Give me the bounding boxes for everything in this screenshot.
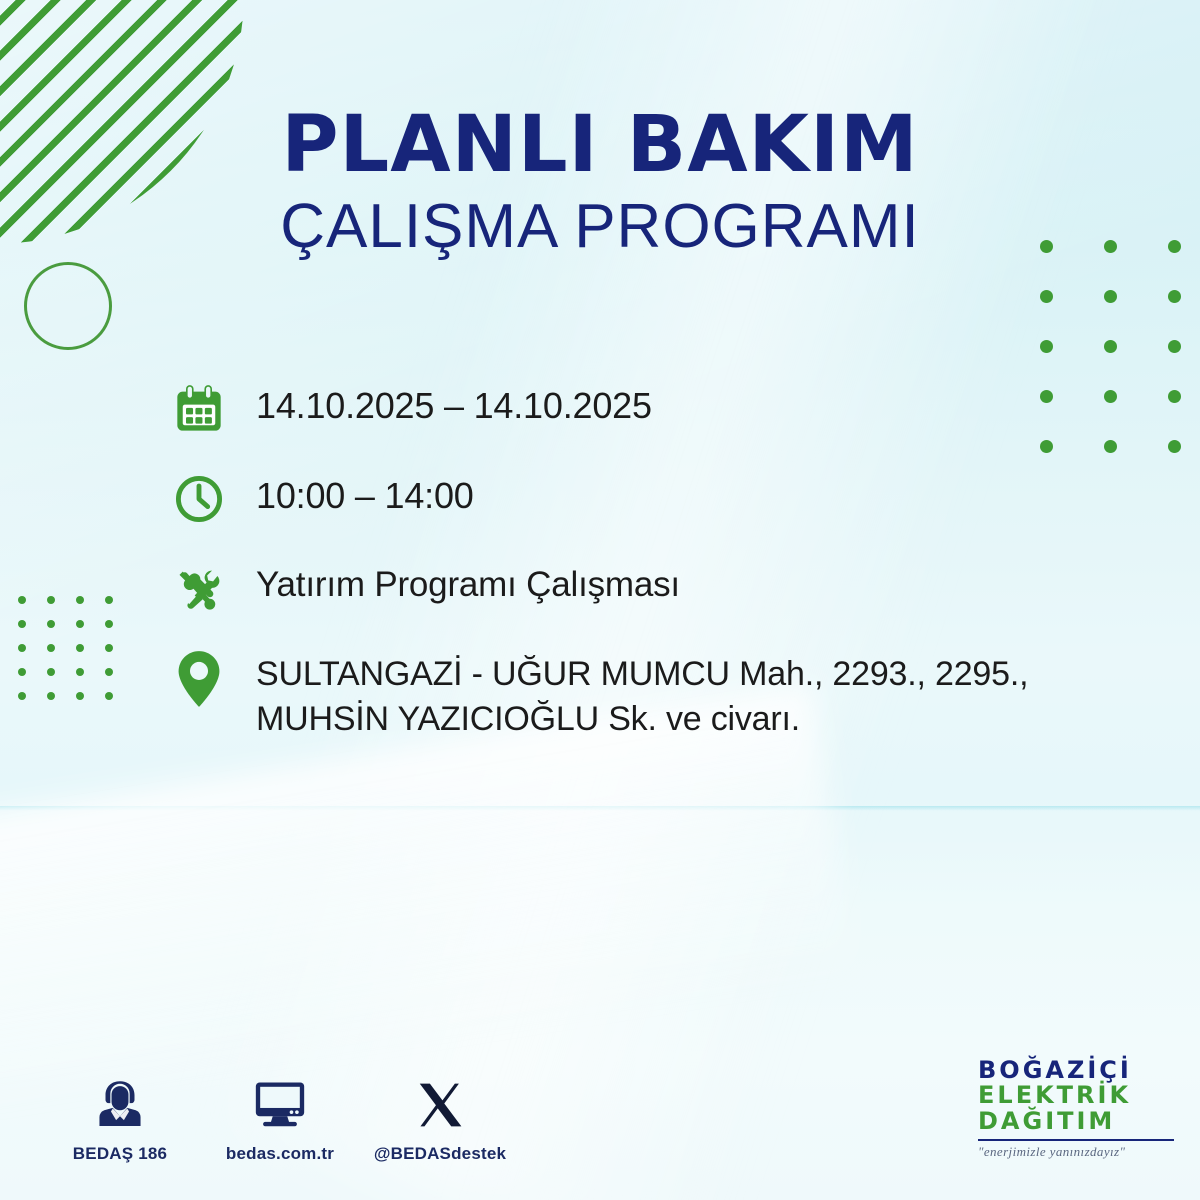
maintenance-details: 14.10.2025 – 14.10.2025 10:00 – 14:00 bbox=[168, 378, 1158, 742]
contact-phone-label: BEDAŞ 186 bbox=[40, 1144, 200, 1164]
dot bbox=[1040, 340, 1053, 353]
date-range-value: 14.10.2025 – 14.10.2025 bbox=[230, 378, 652, 430]
poster-header: PLANLI BAKIM ÇALIŞMA PROGRAMI bbox=[0, 106, 1200, 258]
dot bbox=[18, 596, 26, 604]
location-value: SULTANGAZİ - UĞUR MUMCU Mah., 2293., 229… bbox=[230, 648, 1028, 742]
dot bbox=[1168, 390, 1181, 403]
x-social-icon bbox=[360, 1068, 520, 1132]
detail-row-time: 10:00 – 14:00 bbox=[168, 468, 1158, 530]
contact-website[interactable]: bedas.com.tr bbox=[200, 1068, 360, 1164]
dot bbox=[1168, 290, 1181, 303]
dot bbox=[18, 620, 26, 628]
map-pin-icon bbox=[168, 648, 230, 710]
dot bbox=[1168, 440, 1181, 453]
dot bbox=[105, 644, 113, 652]
dot bbox=[105, 620, 113, 628]
dot bbox=[18, 692, 26, 700]
logo-line-elektrik: ELEKTRİK bbox=[978, 1083, 1178, 1108]
dot bbox=[1040, 290, 1053, 303]
dot bbox=[1168, 340, 1181, 353]
detail-row-work-type: Yatırım Programı Çalışması bbox=[168, 558, 1158, 620]
dot bbox=[105, 692, 113, 700]
dot bbox=[47, 668, 55, 676]
dot bbox=[1104, 290, 1117, 303]
dot bbox=[47, 620, 55, 628]
detail-row-date: 14.10.2025 – 14.10.2025 bbox=[168, 378, 1158, 440]
dot bbox=[18, 644, 26, 652]
tools-icon bbox=[168, 558, 230, 620]
page-subtitle: ÇALIŞMA PROGRAMI bbox=[0, 196, 1200, 258]
detail-row-location: SULTANGAZİ - UĞUR MUMCU Mah., 2293., 229… bbox=[168, 648, 1158, 742]
time-range-value: 10:00 – 14:00 bbox=[230, 468, 474, 520]
dot bbox=[76, 668, 84, 676]
planned-maintenance-poster: PLANLI BAKIM ÇALIŞMA PROGRAMI bbox=[0, 0, 1200, 1200]
page-title: PLANLI BAKIM bbox=[0, 106, 1200, 184]
dot bbox=[105, 596, 113, 604]
clock-icon bbox=[168, 468, 230, 530]
dot bbox=[47, 644, 55, 652]
dot bbox=[47, 596, 55, 604]
monitor-icon bbox=[200, 1068, 360, 1132]
calendar-icon bbox=[168, 378, 230, 440]
logo-line-dagitim: DAĞITIM bbox=[978, 1109, 1178, 1134]
dot bbox=[105, 668, 113, 676]
company-logo: BOĞAZİÇİ ELEKTRİK DAĞITIM "enerjimizle y… bbox=[978, 1058, 1178, 1160]
dot bbox=[1104, 340, 1117, 353]
logo-divider bbox=[978, 1139, 1174, 1141]
dot bbox=[76, 596, 84, 604]
contact-phone[interactable]: BEDAŞ 186 bbox=[40, 1068, 200, 1164]
dot bbox=[76, 692, 84, 700]
location-line-2: MUHSİN YAZICIOĞLU Sk. ve civarı. bbox=[256, 697, 1028, 742]
contact-website-label: bedas.com.tr bbox=[200, 1144, 360, 1164]
dot bbox=[76, 644, 84, 652]
contact-social[interactable]: @BEDASdestek bbox=[360, 1068, 520, 1164]
headset-agent-icon bbox=[40, 1068, 200, 1132]
logo-line-bogazici: BOĞAZİÇİ bbox=[978, 1058, 1178, 1083]
dot-grid-left bbox=[18, 596, 134, 716]
circle-outline-decoration bbox=[24, 262, 112, 350]
logo-tagline: "enerjimizle yanınızdayız" bbox=[978, 1144, 1178, 1160]
dot bbox=[47, 692, 55, 700]
dot bbox=[18, 668, 26, 676]
location-line-1: SULTANGAZİ - UĞUR MUMCU Mah., 2293., 229… bbox=[256, 652, 1028, 697]
contact-social-label: @BEDASdestek bbox=[360, 1144, 520, 1164]
work-type-value: Yatırım Programı Çalışması bbox=[230, 558, 680, 608]
footer-contacts: BEDAŞ 186 bedas.com.tr @B bbox=[40, 1068, 520, 1164]
dot bbox=[76, 620, 84, 628]
